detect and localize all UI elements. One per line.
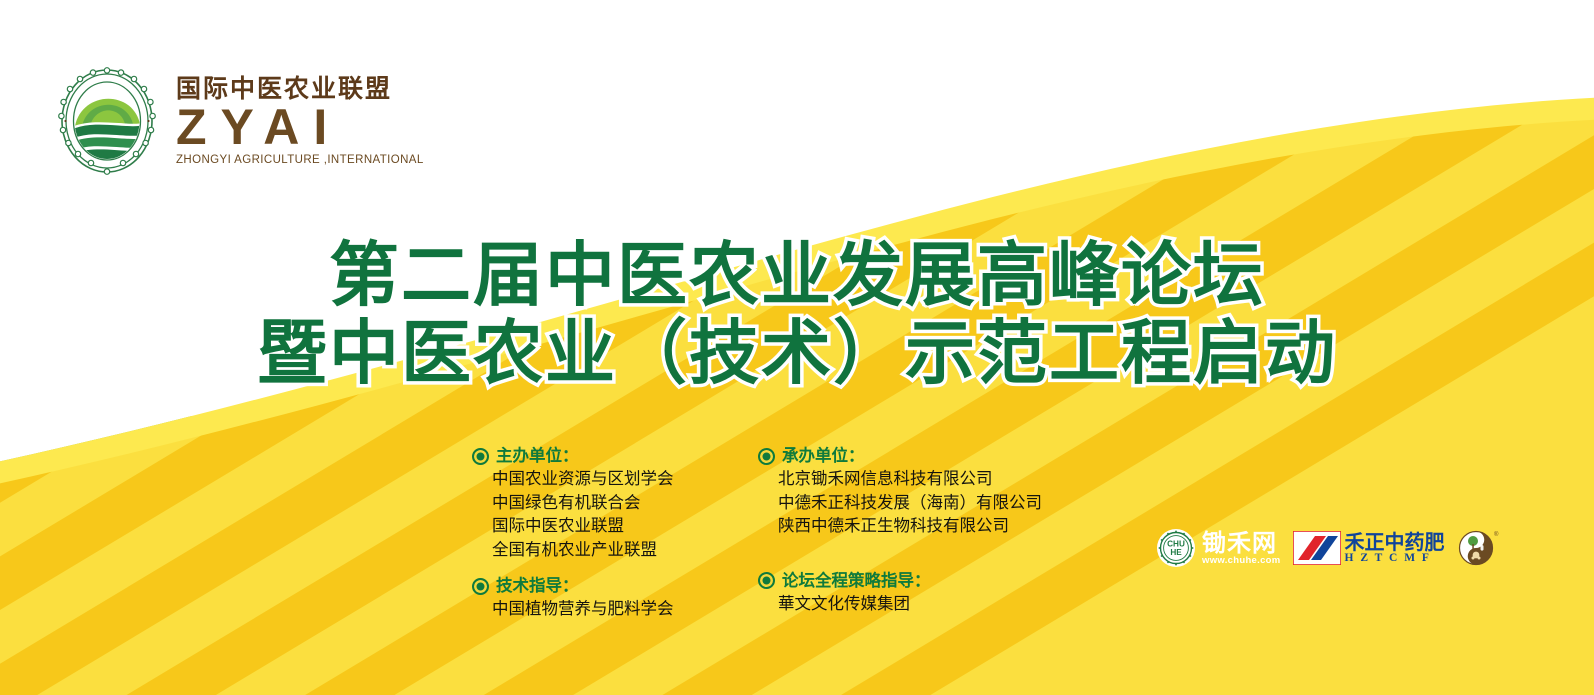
credit-block-co-organizers: 承办单位： 北京锄禾网信息科技有限公司 中德禾正科技发展（海南）有限公司 陕西中… bbox=[758, 445, 1058, 538]
credit-block-technical-guidance: 技术指导： 中国植物营养与肥料学会 bbox=[472, 575, 734, 621]
credit-heading-label: 主办单位： bbox=[496, 445, 579, 467]
bullet-icon bbox=[472, 578, 489, 595]
logo-acronym: ZYAI bbox=[176, 102, 424, 153]
credits-section: 主办单位： 中国农业资源与区划学会 中国绿色有机联合会 国际中医农业联盟 全国有… bbox=[472, 445, 1058, 621]
yinyang-tree-icon: ® bbox=[1457, 528, 1499, 568]
sponsor-logos: CHU HE 锄禾网 www.chuhe.com bbox=[1156, 528, 1499, 568]
credit-item: 北京锄禾网信息科技有限公司 bbox=[778, 467, 1058, 490]
credits-column-right: 承办单位： 北京锄禾网信息科技有限公司 中德禾正科技发展（海南）有限公司 陕西中… bbox=[758, 445, 1058, 621]
sponsor-hztcmf[interactable]: 禾正中药肥 H Z T C M F bbox=[1293, 531, 1445, 565]
logo-name-en: ZHONGYI AGRICULTURE ,INTERNATIONAL bbox=[176, 155, 424, 167]
credit-heading: 承办单位： bbox=[758, 445, 1058, 467]
zyai-seal-icon bbox=[52, 66, 162, 176]
bullet-icon bbox=[758, 572, 775, 589]
credit-block-strategy-advisor: 论坛全程策略指导： 華文文化传媒集团 bbox=[758, 570, 1058, 616]
credit-heading-label: 技术指导： bbox=[496, 575, 579, 597]
credit-block-organizers: 主办单位： 中国农业资源与区划学会 中国绿色有机联合会 国际中医农业联盟 全国有… bbox=[472, 445, 734, 561]
credit-item: 中德禾正科技发展（海南）有限公司 bbox=[778, 491, 1058, 514]
credit-heading: 技术指导： bbox=[472, 575, 734, 597]
credit-items: 中国植物营养与肥料学会 bbox=[492, 597, 734, 620]
credit-heading-label: 承办单位： bbox=[782, 445, 865, 467]
credits-column-left: 主办单位： 中国农业资源与区划学会 中国绿色有机联合会 国际中医农业联盟 全国有… bbox=[472, 445, 734, 621]
credit-item: 華文文化传媒集团 bbox=[778, 592, 1058, 615]
credit-item: 中国农业资源与区划学会 bbox=[492, 467, 734, 490]
logo-name-cn: 国际中医农业联盟 bbox=[176, 76, 424, 101]
credit-item: 陕西中德禾正生物科技有限公司 bbox=[778, 514, 1058, 537]
credit-items: 中国农业资源与区划学会 中国绿色有机联合会 国际中医农业联盟 全国有机农业产业联… bbox=[492, 467, 734, 561]
hztcmf-mark-icon bbox=[1293, 531, 1341, 565]
chuhe-wordmark: 锄禾网 www.chuhe.com bbox=[1202, 531, 1281, 566]
sponsor-yinyang-tree[interactable]: ® bbox=[1457, 528, 1499, 568]
chuhe-url: www.chuhe.com bbox=[1202, 556, 1281, 566]
credit-heading: 论坛全程策略指导： bbox=[758, 570, 1058, 592]
credit-item: 国际中医农业联盟 bbox=[492, 514, 734, 537]
hztcmf-acronym: H Z T C M F bbox=[1345, 553, 1445, 565]
conference-banner: 国际中医农业联盟 ZYAI ZHONGYI AGRICULTURE ,INTER… bbox=[0, 0, 1594, 695]
credit-item: 中国绿色有机联合会 bbox=[492, 491, 734, 514]
credit-heading: 主办单位： bbox=[472, 445, 734, 467]
svg-text:HE: HE bbox=[1170, 548, 1182, 557]
credit-items: 華文文化传媒集团 bbox=[778, 592, 1058, 615]
hztcmf-wordmark: 禾正中药肥 H Z T C M F bbox=[1345, 532, 1445, 565]
credit-items: 北京锄禾网信息科技有限公司 中德禾正科技发展（海南）有限公司 陕西中德禾正生物科… bbox=[778, 467, 1058, 537]
svg-text:®: ® bbox=[1494, 531, 1499, 538]
sponsor-chuhe[interactable]: CHU HE 锄禾网 www.chuhe.com bbox=[1156, 528, 1281, 568]
credit-item: 中国植物营养与肥料学会 bbox=[492, 597, 734, 620]
logo-wordmark: 国际中医农业联盟 ZYAI ZHONGYI AGRICULTURE ,INTER… bbox=[176, 76, 424, 167]
hztcmf-name: 禾正中药肥 bbox=[1345, 532, 1445, 552]
credit-item: 全国有机农业产业联盟 bbox=[492, 538, 734, 561]
credit-heading-label: 论坛全程策略指导： bbox=[782, 570, 931, 592]
chuhe-name: 锄禾网 bbox=[1202, 531, 1281, 555]
organization-logo: 国际中医农业联盟 ZYAI ZHONGYI AGRICULTURE ,INTER… bbox=[52, 66, 424, 176]
bullet-icon bbox=[472, 448, 489, 465]
chuhe-seal-icon: CHU HE bbox=[1156, 528, 1196, 568]
bullet-icon bbox=[758, 448, 775, 465]
